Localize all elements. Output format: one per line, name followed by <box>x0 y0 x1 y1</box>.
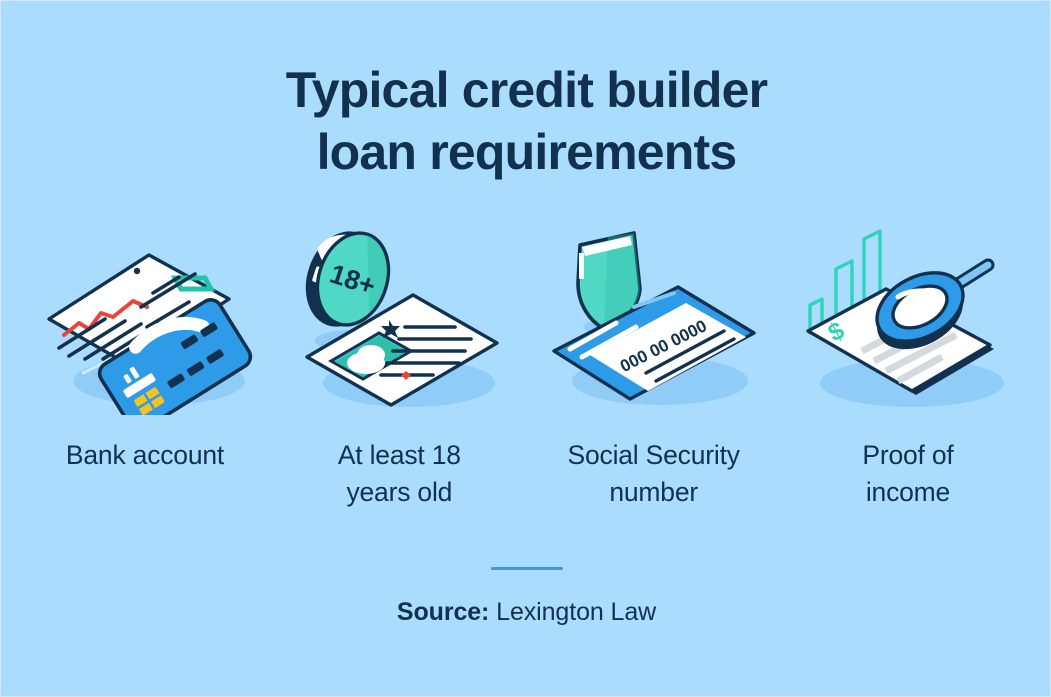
requirement-label-income: Proof of income <box>795 437 1021 511</box>
source-footer: Source: Lexington Law <box>1 567 1051 627</box>
source-attribution: Source: Lexington Law <box>1 598 1051 627</box>
requirement-item-ssn: 000 00 0000 Social Security number <box>532 223 776 511</box>
requirement-label-age-line2: years old <box>346 477 452 507</box>
title-line-1: Typical credit builder <box>1 59 1051 121</box>
requirement-label-income-line2: income <box>866 477 950 507</box>
footer-divider <box>491 567 563 570</box>
age-badge-and-id-card-icon: 18+ <box>283 223 515 415</box>
source-value: Lexington Law <box>496 598 656 626</box>
requirement-item-bank-account: Bank account <box>23 223 267 474</box>
shield-and-social-security-card-icon: 000 00 0000 <box>538 223 770 415</box>
source-label: Source: <box>397 598 489 626</box>
requirement-item-age: 18+ <box>277 223 521 511</box>
page-title: Typical credit builder loan requirements <box>1 59 1051 183</box>
requirement-label-bank-account: Bank account <box>32 437 258 474</box>
bank-statement-and-credit-card-icon <box>29 223 261 415</box>
income-document-with-magnifier-icon: $ <box>792 223 1024 415</box>
requirement-label-age: At least 18 years old <box>286 437 512 511</box>
requirement-label-age-line1: At least 18 <box>338 440 461 470</box>
requirement-item-income: $ <box>786 223 1030 511</box>
infographic-canvas: Typical credit builder loan requirements <box>0 0 1051 697</box>
requirement-label-ssn-line2: number <box>609 477 698 507</box>
requirements-row: Bank account 18+ <box>23 223 1030 511</box>
requirement-label-income-line1: Proof of <box>862 440 953 470</box>
requirement-label-ssn: Social Security number <box>541 437 767 511</box>
title-line-2: loan requirements <box>1 121 1051 183</box>
requirement-label-ssn-line1: Social Security <box>568 440 740 470</box>
